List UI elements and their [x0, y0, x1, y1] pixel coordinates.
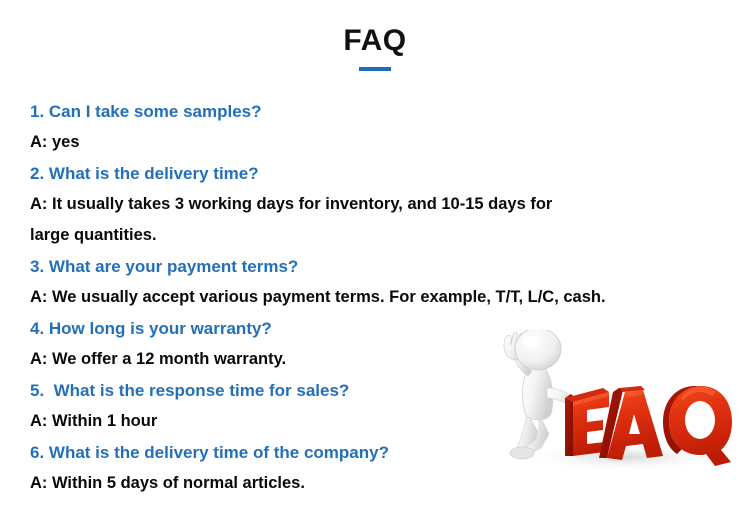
- faq-answer-line: large quantities.: [30, 220, 698, 251]
- mannequin-head: [515, 330, 561, 370]
- faq-answer-line: A: yes: [30, 127, 720, 158]
- faq-item: 3. What are your payment terms? A: We us…: [30, 251, 720, 313]
- page-title-block: FAQ: [0, 24, 750, 71]
- faq-answer-line: A: It usually takes 3 working days for i…: [30, 189, 698, 220]
- faq-question: 1. Can I take some samples?: [30, 96, 720, 127]
- faq-page: FAQ 1. Can I take some samples? A: yes 2…: [0, 0, 750, 524]
- faq-item: 1. Can I take some samples? A: yes: [30, 96, 720, 158]
- faq-answer-line: A: We usually accept various payment ter…: [30, 282, 720, 313]
- title-underline-rule: [359, 67, 391, 71]
- faq-item: 2. What is the delivery time? A: It usua…: [30, 158, 720, 251]
- faq-3d-illustration: [495, 330, 740, 480]
- page-title: FAQ: [0, 24, 750, 58]
- faq-question: 3. What are your payment terms?: [30, 251, 720, 282]
- faq-question: 2. What is the delivery time?: [30, 158, 720, 189]
